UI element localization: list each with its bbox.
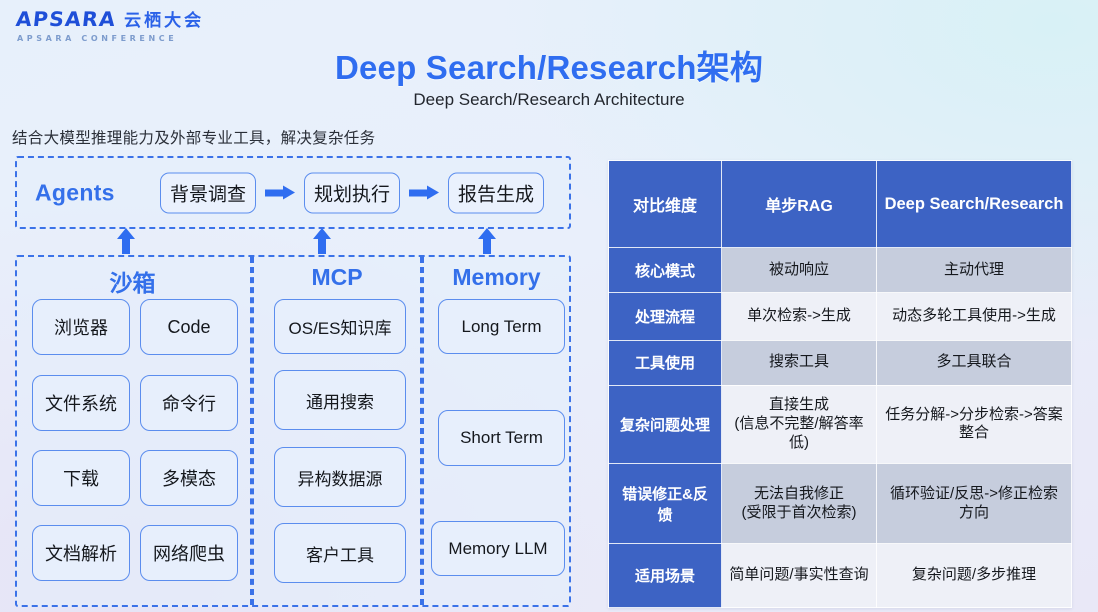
row-rag-value: 搜索工具 <box>722 340 877 385</box>
column-sandbox-title: 沙箱 <box>15 264 250 298</box>
chip-commandline[interactable]: 命令行 <box>140 375 238 431</box>
agents-flow: 背景调查 规划执行 报告生成 <box>160 172 544 213</box>
table-row: 处理流程 单次检索->生成 动态多轮工具使用->生成 <box>609 293 1072 340</box>
chip-download[interactable]: 下载 <box>32 450 130 506</box>
row-rag-value: 被动响应 <box>722 248 877 293</box>
slide-root: APSARA 云栖大会 APSARA CONFERENCE Deep Searc… <box>0 0 1098 612</box>
arrow-up-icon <box>478 228 496 254</box>
row-dimension: 处理流程 <box>609 293 722 340</box>
logo-wordmark-row: APSARA 云栖大会 <box>17 6 204 31</box>
row-deep-value: 循环验证/反思->修正检索方向 <box>877 463 1072 543</box>
chip-code[interactable]: Code <box>140 299 238 355</box>
logo-apsara-text: APSARA <box>15 7 118 31</box>
table-row: 核心模式 被动响应 主动代理 <box>609 248 1072 293</box>
page-subtitle: Deep Search/Research Architecture <box>0 90 1098 110</box>
column-mcp-title: MCP <box>254 264 420 291</box>
agents-label: Agents <box>35 179 115 206</box>
chip-multimodal[interactable]: 多模态 <box>140 450 238 506</box>
chip-client-tools[interactable]: 客户工具 <box>274 523 406 583</box>
table-row: 工具使用 搜索工具 多工具联合 <box>609 340 1072 385</box>
row-rag-value: 简单问题/事实性查询 <box>722 544 877 608</box>
apsara-logo: APSARA 云栖大会 APSARA CONFERENCE <box>17 6 204 43</box>
table-header-rag: 单步RAG <box>722 161 877 248</box>
row-deep-value: 主动代理 <box>877 248 1072 293</box>
row-deep-value: 复杂问题/多步推理 <box>877 544 1072 608</box>
logo-chinese-text: 云栖大会 <box>124 6 204 31</box>
chip-memory-llm[interactable]: Memory LLM <box>431 521 565 576</box>
row-deep-value: 任务分解->分步检索->答案整合 <box>877 385 1072 463</box>
chip-os-es-knowledge-base[interactable]: OS/ES知识库 <box>274 299 406 354</box>
agents-panel: Agents 背景调查 规划执行 报告生成 <box>15 156 571 229</box>
table-row: 适用场景 简单问题/事实性查询 复杂问题/多步推理 <box>609 544 1072 608</box>
arrow-up-icon <box>117 228 135 254</box>
row-deep-value: 动态多轮工具使用->生成 <box>877 293 1072 340</box>
chip-doc-parsing[interactable]: 文档解析 <box>32 525 130 581</box>
chip-short-term[interactable]: Short Term <box>438 410 565 466</box>
row-rag-value: 无法自我修正(受限于首次检索) <box>722 463 877 543</box>
chip-web-crawler[interactable]: 网络爬虫 <box>140 525 238 581</box>
page-title: Deep Search/Research架构 <box>0 41 1098 89</box>
row-dimension: 复杂问题处理 <box>609 385 722 463</box>
column-memory-title: Memory <box>424 264 569 291</box>
row-dimension: 适用场景 <box>609 544 722 608</box>
agent-step-2[interactable]: 规划执行 <box>304 172 400 213</box>
row-dimension: 工具使用 <box>609 340 722 385</box>
column-mcp: MCP OS/ES知识库 通用搜索 异构数据源 客户工具 <box>252 257 422 605</box>
chip-filesystem[interactable]: 文件系统 <box>32 375 130 431</box>
chip-long-term[interactable]: Long Term <box>438 299 565 354</box>
arrow-right-icon <box>409 186 439 200</box>
column-mcp-body: OS/ES知识库 通用搜索 异构数据源 客户工具 <box>254 299 420 597</box>
chip-browser[interactable]: 浏览器 <box>32 299 130 355</box>
table-header-row: 对比维度 单步RAG Deep Search/Research <box>609 161 1072 248</box>
row-rag-value: 单次检索->生成 <box>722 293 877 340</box>
row-dimension: 核心模式 <box>609 248 722 293</box>
arrow-right-icon <box>265 186 295 200</box>
agent-step-3[interactable]: 报告生成 <box>448 172 544 213</box>
column-memory: Memory Long Term Short Term Memory LLM <box>422 257 569 605</box>
row-rag-value: 直接生成(信息不完整/解答率低) <box>722 385 877 463</box>
table-row: 复杂问题处理 直接生成(信息不完整/解答率低) 任务分解->分步检索->答案整合 <box>609 385 1072 463</box>
capabilities-panel: 沙箱 浏览器 Code 文件系统 命令行 下载 多模态 文档解析 网络爬虫 MC… <box>15 255 571 607</box>
comparison-table: 对比维度 单步RAG Deep Search/Research 核心模式 被动响… <box>608 160 1072 608</box>
lead-text: 结合大模型推理能力及外部专业工具，解决复杂任务 <box>12 126 375 148</box>
agent-step-1[interactable]: 背景调查 <box>160 172 256 213</box>
table-row: 错误修正&反馈 无法自我修正(受限于首次检索) 循环验证/反思->修正检索方向 <box>609 463 1072 543</box>
arrow-up-icon <box>313 228 331 254</box>
table-header-dimension: 对比维度 <box>609 161 722 248</box>
chip-heterogeneous-data[interactable]: 异构数据源 <box>274 447 406 507</box>
column-sandbox-body: 浏览器 Code 文件系统 命令行 下载 多模态 文档解析 网络爬虫 <box>15 299 250 597</box>
column-sandbox: 沙箱 浏览器 Code 文件系统 命令行 下载 多模态 文档解析 网络爬虫 <box>15 257 252 605</box>
table-header-deep: Deep Search/Research <box>877 161 1072 248</box>
row-deep-value: 多工具联合 <box>877 340 1072 385</box>
chip-general-search[interactable]: 通用搜索 <box>274 370 406 430</box>
column-memory-body: Long Term Short Term Memory LLM <box>424 299 569 597</box>
row-dimension: 错误修正&反馈 <box>609 463 722 543</box>
